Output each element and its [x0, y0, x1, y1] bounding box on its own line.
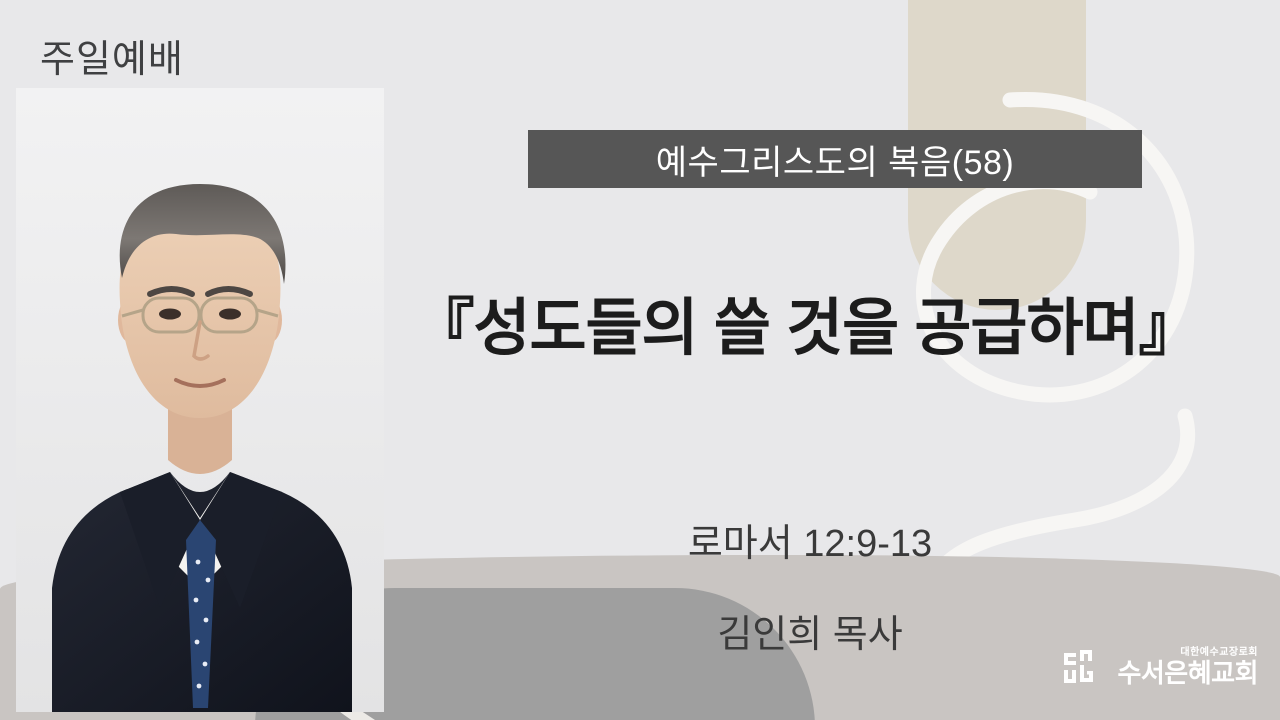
church-logo-mark-icon: [1063, 650, 1109, 686]
sermon-title-slide: 주일예배 예수그리스도의 복음(58) 『성도들의 쓸 것을 공급하며』 로마서…: [0, 0, 1280, 720]
denomination-label: 대한예수교장로회: [1180, 648, 1258, 658]
sermon-series-label: 예수그리스도의 복음(58): [656, 135, 1014, 184]
church-name-label: 수서은혜교회: [1117, 660, 1258, 686]
church-logo: 대한예수교장로회 수서은혜교회: [1063, 648, 1258, 686]
service-type-label: 주일예배: [40, 28, 184, 83]
church-logo-text: 대한예수교장로회 수서은혜교회: [1117, 648, 1258, 686]
speaker-portrait: [0, 88, 400, 720]
scripture-reference: 로마서 12:9-13: [540, 512, 1080, 567]
sermon-series-banner: 예수그리스도의 복음(58): [528, 130, 1142, 188]
sermon-title: 『성도들의 쓸 것을 공급하며』: [378, 277, 1234, 367]
speaker-name: 김인희 목사: [540, 603, 1080, 658]
